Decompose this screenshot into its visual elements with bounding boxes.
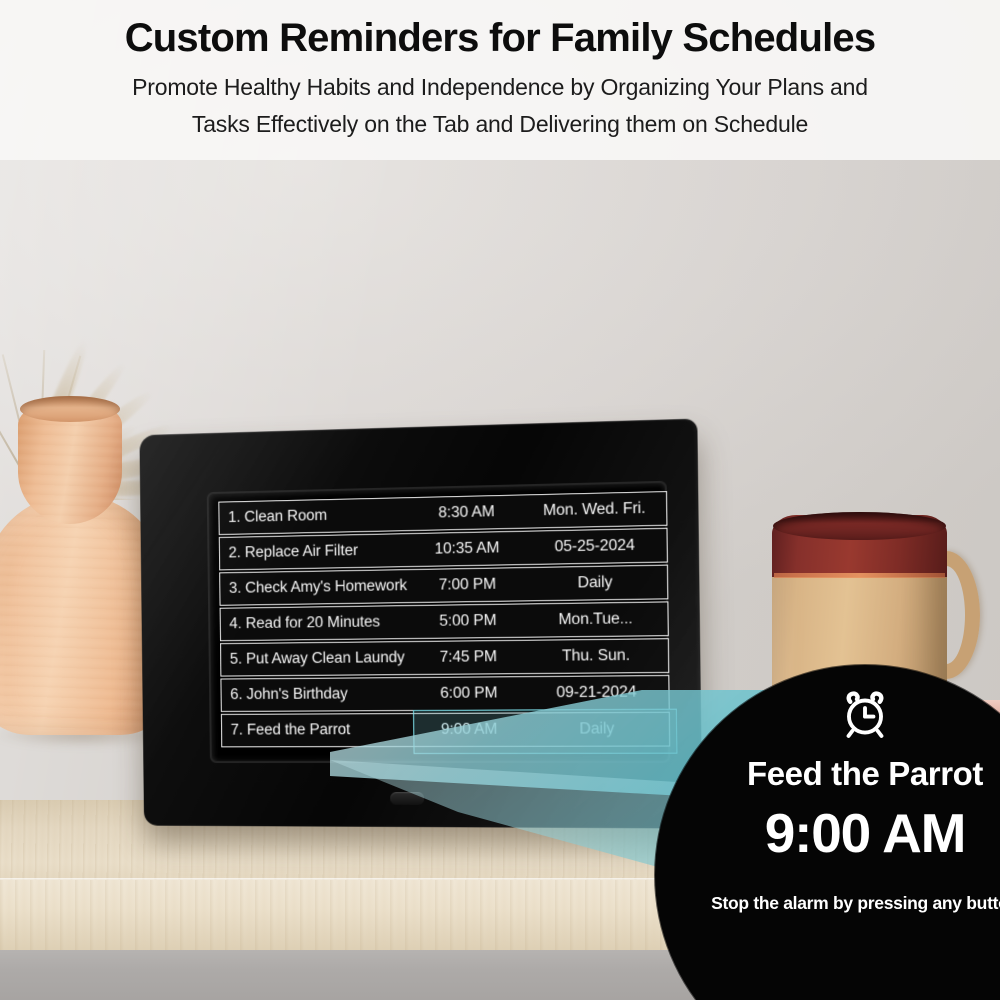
reminder-task-label: 5. Put Away Clean Laundy — [221, 649, 412, 669]
reminder-task-label: 1. Clean Room — [219, 505, 410, 527]
page-subtitle: Promote Healthy Habits and Independence … — [0, 69, 1000, 144]
page-subtitle-line-2: Tasks Effectively on the Tab and Deliver… — [0, 106, 1000, 143]
reminder-task-label: 6. John's Birthday — [221, 685, 412, 704]
reminder-tablet-device[interactable]: 1. Clean Room8:30 AMMon. Wed. Fri.2. Rep… — [139, 419, 702, 829]
reminder-row[interactable]: 4. Read for 20 Minutes5:00 PMMon.Tue... — [220, 601, 669, 641]
header-band: Custom Reminders for Family Schedules Pr… — [0, 0, 1000, 160]
reminder-time-label: 8:30 AM — [411, 502, 523, 523]
mug-rim — [773, 512, 946, 540]
reminder-repeat-label: Mon. Wed. Fri. — [523, 499, 667, 520]
reminder-task-label: 7. Feed the Parrot — [222, 721, 413, 739]
callout-time: 9:00 AM — [765, 801, 965, 865]
reminder-repeat-label: Daily — [525, 720, 669, 739]
vase-lip — [20, 396, 120, 422]
page-title: Custom Reminders for Family Schedules — [0, 16, 1000, 61]
reminder-row[interactable]: 3. Check Amy's Homework7:00 PMDaily — [219, 565, 668, 606]
callout-title: Feed the Parrot — [747, 755, 983, 793]
alarm-callout-badge: Feed the Parrot 9:00 AM Stop the alarm b… — [655, 665, 1000, 1000]
reminder-task-label: 4. Read for 20 Minutes — [221, 613, 412, 633]
reminder-list[interactable]: 1. Clean Room8:30 AMMon. Wed. Fri.2. Rep… — [218, 491, 670, 747]
reminder-repeat-label: 05-25-2024 — [523, 536, 667, 557]
reminder-repeat-label: Thu. Sun. — [524, 646, 668, 666]
reminder-row[interactable]: 7. Feed the Parrot9:00 AMDaily — [221, 712, 670, 748]
reminder-repeat-label: Daily — [524, 573, 668, 594]
reminder-task-label: 2. Replace Air Filter — [220, 541, 411, 562]
reminder-repeat-label: Mon.Tue... — [524, 610, 668, 630]
product-banner: ME 1. Clean Room8:30 AMMon. Wed. Fri.2. … — [0, 0, 1000, 1000]
page-subtitle-line-1: Promote Healthy Habits and Independence … — [0, 69, 1000, 106]
reminder-task-label: 3. Check Amy's Homework — [220, 577, 411, 598]
callout-instruction-note: Stop the alarm by pressing any button — [655, 893, 1000, 914]
reminder-repeat-label: 09-21-2024 — [525, 683, 669, 702]
mug-band-edge — [774, 573, 945, 578]
alarm-clock-icon — [838, 687, 892, 741]
device-screen[interactable]: 1. Clean Room8:30 AMMon. Wed. Fri.2. Rep… — [218, 491, 670, 755]
